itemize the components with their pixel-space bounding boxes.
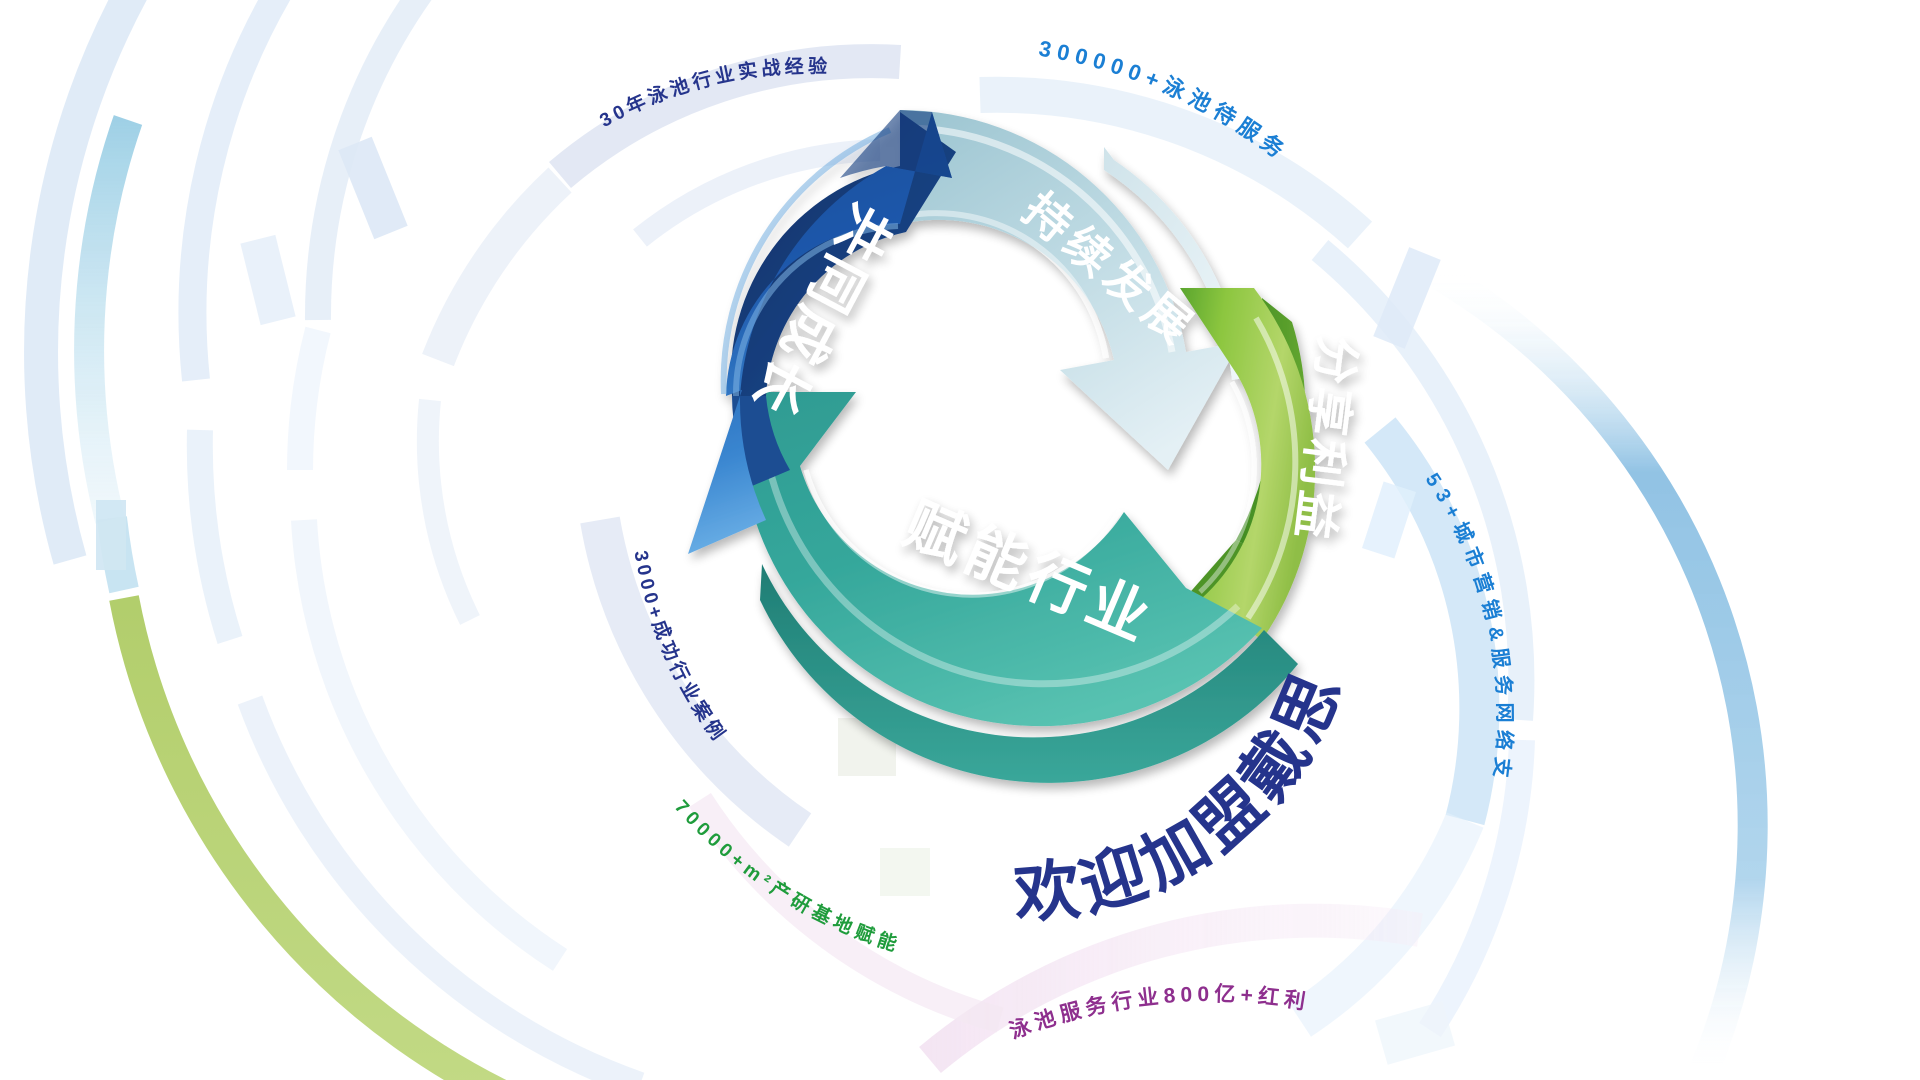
accent-tile-5 <box>1362 481 1416 558</box>
ring-arc-2-left <box>192 0 292 380</box>
ring-arc-3c <box>304 520 560 960</box>
accent-tile-2 <box>240 235 295 325</box>
cycle-segment-share-benefits[interactable]: 分享利益 <box>1164 288 1364 640</box>
ring-arc-blue-left <box>89 120 128 520</box>
accent-tile-7 <box>1375 1001 1455 1065</box>
ring-arc-5-left <box>428 400 470 620</box>
ring-arc-4-left <box>438 180 560 360</box>
cycle-diagram: 持续发展 分享利益 赋能行业 <box>0 0 1920 1080</box>
accent-tile-1 <box>338 137 407 239</box>
poster-canvas: 持续发展 分享利益 赋能行业 <box>0 0 1920 1080</box>
ring-arc-pink-mid <box>700 800 1000 1020</box>
accent-tile-6 <box>880 848 930 896</box>
accent-tile-8 <box>96 500 126 570</box>
cycle-ring: 持续发展 分享利益 赋能行业 <box>688 110 1364 783</box>
ring-arc-2b-left <box>200 430 230 640</box>
ring-arc-3b <box>300 330 318 470</box>
ring-arc-2c-left <box>250 700 640 1080</box>
ring-arc-4-lower <box>600 520 800 830</box>
